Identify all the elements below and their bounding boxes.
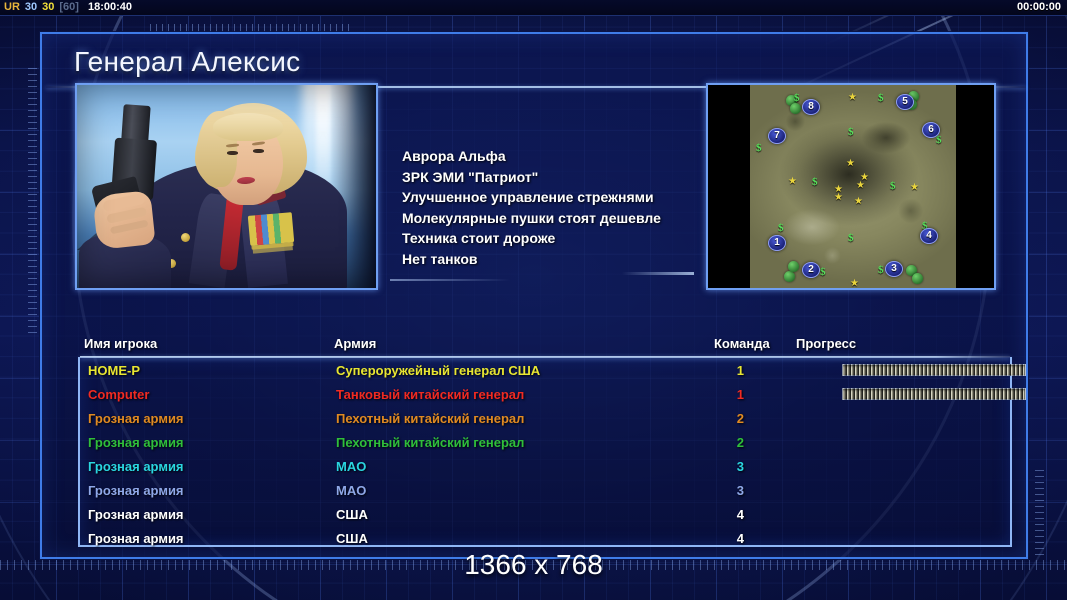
player-table-header: Имя игрока Армия Команда Прогресс <box>80 336 1010 358</box>
cash-icon: $ <box>890 181 896 192</box>
description-line: Нет танков <box>402 249 661 270</box>
cell-army: Пехотный китайский генерал <box>336 407 524 431</box>
cell-army: Пехотный китайский генерал <box>336 431 524 455</box>
description-line: Улучшенное управление стрежнями <box>402 187 661 208</box>
description-line: Аврора Альфа <box>402 146 661 167</box>
star-icon: ★ <box>910 183 919 193</box>
cell-player-name: Грозная армия <box>88 455 184 479</box>
tree-icon <box>784 271 795 282</box>
start-position-marker[interactable]: 8 <box>802 99 820 115</box>
tree-icon <box>786 95 797 106</box>
tree-icon <box>906 265 917 276</box>
cell-army: США <box>336 503 368 527</box>
cell-team: 1 <box>710 359 744 383</box>
cash-icon: $ <box>848 233 854 244</box>
cash-icon: $ <box>878 93 884 104</box>
tree-icon <box>912 273 923 284</box>
start-position-marker[interactable]: 4 <box>920 228 938 244</box>
start-position-marker[interactable]: 5 <box>896 94 914 110</box>
hud-value-max: [60] <box>59 2 79 13</box>
description-line: Техника стоит дороже <box>402 228 661 249</box>
description-line: ЗРК ЭМИ "Патриот" <box>402 167 661 188</box>
description-highlight-left <box>390 279 510 281</box>
cash-icon: $ <box>794 93 800 104</box>
cell-player-name: Грозная армия <box>88 503 184 527</box>
column-header-team: Команда <box>714 336 770 352</box>
star-icon: ★ <box>846 159 855 169</box>
game-lobby-screen: UR 30 30 [60] 18:00:40 00:00:00 Генерал … <box>0 0 1067 600</box>
hud-value-two: 30 <box>42 2 54 13</box>
cell-army: Танковый китайский генерал <box>336 383 524 407</box>
table-row[interactable]: HOME-PСупероружейный генерал США1 <box>80 359 1010 383</box>
start-position-marker[interactable]: 2 <box>802 262 820 278</box>
cell-player-name: HOME-P <box>88 359 140 383</box>
general-portrait-frame <box>75 83 378 290</box>
general-description: Аврора АльфаЗРК ЭМИ "Патриот"Улучшенное … <box>390 83 702 290</box>
star-icon: ★ <box>856 181 865 191</box>
cash-icon: $ <box>878 265 884 276</box>
cell-team: 2 <box>710 407 744 431</box>
general-portrait-image <box>77 85 376 288</box>
cell-army: Супероружейный генерал США <box>336 359 540 383</box>
column-header-player-name: Имя игрока <box>84 336 157 352</box>
tree-icon <box>790 103 801 114</box>
cash-icon: $ <box>936 135 942 146</box>
cell-team: 1 <box>710 383 744 407</box>
hud-timer: 00:00:00 <box>1017 2 1067 13</box>
star-icon: ★ <box>850 279 859 289</box>
start-position-marker[interactable]: 1 <box>768 235 786 251</box>
hud-stats-group: UR 30 30 [60] 18:00:40 <box>0 2 132 13</box>
cell-team: 3 <box>710 455 744 479</box>
table-row[interactable]: ComputerТанковый китайский генерал1 <box>80 383 1010 407</box>
main-panel: Генерал Алексис <box>40 32 1028 559</box>
star-icon: ★ <box>788 177 797 187</box>
star-icon: ★ <box>834 185 843 195</box>
cell-player-name: Грозная армия <box>88 407 184 431</box>
ruler-ticks-left <box>28 68 37 338</box>
hud-clock: 18:00:40 <box>88 2 132 13</box>
progress-bar <box>842 388 1026 400</box>
progress-bar <box>842 364 1026 376</box>
minimap-frame[interactable]: ★★★★★★★★★★$$$$$$$$$$$$85761423 <box>706 83 996 290</box>
player-table: HOME-PСупероружейный генерал США1Compute… <box>78 357 1012 547</box>
page-title: Генерал Алексис <box>74 48 300 76</box>
description-highlight-right <box>622 272 694 275</box>
cell-player-name: Computer <box>88 383 149 407</box>
cell-player-name: Грозная армия <box>88 479 184 503</box>
top-hud-bar: UR 30 30 [60] 18:00:40 00:00:00 <box>0 0 1067 16</box>
ruler-ticks-right <box>1035 470 1044 560</box>
cash-icon: $ <box>820 267 826 278</box>
description-lines: Аврора АльфаЗРК ЭМИ "Патриот"Улучшенное … <box>402 146 661 269</box>
portrait-vignette <box>77 85 376 288</box>
table-row[interactable]: Грозная армияПехотный китайский генерал2 <box>80 407 1010 431</box>
cell-team: 4 <box>710 503 744 527</box>
start-position-marker[interactable]: 6 <box>922 122 940 138</box>
cash-icon: $ <box>812 177 818 188</box>
cell-army: MAO <box>336 455 366 479</box>
description-line: Молекулярные пушки стоят дешевле <box>402 208 661 229</box>
star-icon: ★ <box>848 93 857 103</box>
cash-icon: $ <box>778 223 784 234</box>
star-icon: ★ <box>860 173 869 183</box>
cell-team: 3 <box>710 479 744 503</box>
cell-player-name: Грозная армия <box>88 431 184 455</box>
table-row[interactable]: Грозная армияСША4 <box>80 503 1010 527</box>
star-icon: ★ <box>854 197 863 207</box>
column-header-army: Армия <box>334 336 376 352</box>
cell-army: MAO <box>336 479 366 503</box>
hud-ur-label: UR <box>4 2 20 13</box>
start-position-marker[interactable]: 3 <box>885 261 903 277</box>
start-position-marker[interactable]: 7 <box>768 128 786 144</box>
hud-value-one: 30 <box>25 2 37 13</box>
cell-team: 2 <box>710 431 744 455</box>
star-icon: ★ <box>834 193 843 203</box>
tree-icon <box>908 91 919 102</box>
table-row[interactable]: Грозная армияПехотный китайский генерал2 <box>80 431 1010 455</box>
table-row[interactable]: Грозная армияMAO3 <box>80 455 1010 479</box>
column-header-progress: Прогресс <box>796 336 856 352</box>
minimap-terrain[interactable]: ★★★★★★★★★★$$$$$$$$$$$$85761423 <box>750 85 956 288</box>
cash-icon: $ <box>848 127 854 138</box>
resolution-caption: 1366 x 768 <box>0 548 1067 582</box>
tree-icon <box>906 99 917 110</box>
cash-icon: $ <box>756 143 762 154</box>
cash-icon: $ <box>922 221 928 232</box>
table-row[interactable]: Грозная армияMAO3 <box>80 479 1010 503</box>
tree-icon <box>788 261 799 272</box>
